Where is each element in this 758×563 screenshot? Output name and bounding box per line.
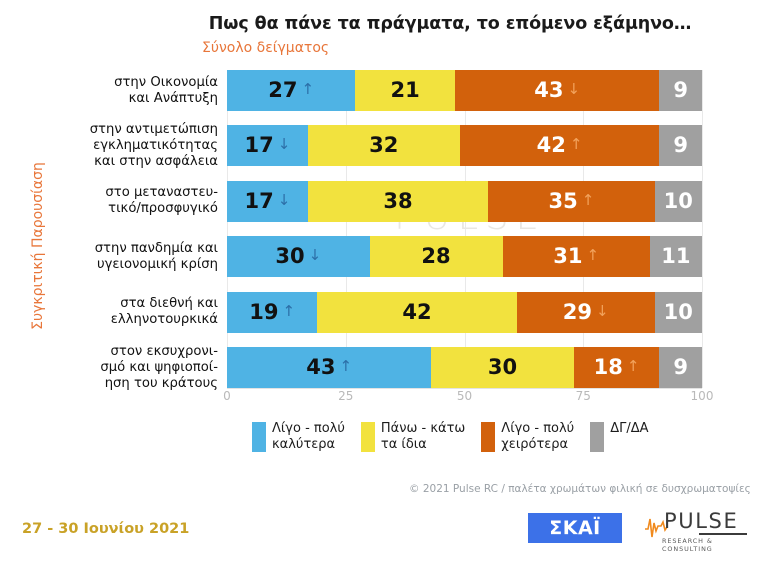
category-label-line: τικό/προσφυγικό [33,201,218,217]
bar-segment-2[interactable]: 42 [317,292,517,333]
bar-value: 32 [369,135,398,156]
bar-value: 30 [488,357,517,378]
trend-arrow-down-icon: ↓ [309,248,322,263]
bar-segment-2[interactable]: 30 [431,347,574,388]
bar-value: 18 [594,357,623,378]
bar-segment-3[interactable]: 43↓ [455,70,659,111]
x-axis-tick: 50 [457,389,472,403]
category-label-line: σμό και ψηφιοποί- [33,360,218,376]
bar-value: 42 [402,302,431,323]
chart-legend: Λίγο - πολύ καλύτεραΠάνω - κάτω τα ίδιαΛ… [252,421,649,453]
bar-value: 28 [421,246,450,267]
bar-value: 17 [244,191,273,212]
bar-segment-3[interactable]: 42↑ [460,125,660,166]
bar-segment-2[interactable]: 21 [355,70,455,111]
category-label: στα διεθνή καιελληνοτουρκικά [33,296,218,328]
bar-segment-4[interactable]: 9 [659,125,702,166]
bar-segment-1[interactable]: 30↓ [227,236,370,277]
x-axis-tick: 0 [223,389,231,403]
bar-value: 11 [661,246,690,267]
gridline [227,70,228,388]
bar-segment-1[interactable]: 17↓ [227,181,308,222]
bar-segment-2[interactable]: 32 [308,125,460,166]
bar-segment-4[interactable]: 10 [655,181,703,222]
bar-segment-3[interactable]: 31↑ [503,236,650,277]
category-label-line: στην Οικονομία [33,75,218,91]
bar-value: 30 [275,246,304,267]
category-label-line: στο μεταναστευ- [33,185,218,201]
trend-arrow-down-icon: ↓ [278,193,291,208]
bar-value: 19 [249,302,278,323]
category-label-line: ελληνοτουρκικά [33,312,218,328]
category-label-line: στην αντιμετώπιση [33,122,218,138]
trend-arrow-up-icon: ↑ [586,248,599,263]
page-title: Πως θα πάνε τα πράγματα, το επόμενο εξάμ… [200,14,700,34]
bar-value: 27 [268,80,297,101]
trend-arrow-up-icon: ↑ [582,193,595,208]
bar-row: 17↓3242↑9 [227,125,702,166]
trend-arrow-down-icon: ↓ [596,304,609,319]
category-label-list: στην Οικονομίακαι Ανάπτυξηστην αντιμετώπ… [28,70,218,388]
category-label-line: ηση του κράτους [33,376,218,392]
bar-value: 38 [383,191,412,212]
copyright-text: © 2021 Pulse RC / παλέτα χρωμάτων φιλική… [409,483,751,495]
x-axis-tick: 25 [338,389,353,403]
bar-segment-4[interactable]: 9 [659,347,702,388]
gridline [346,70,347,388]
bar-segment-1[interactable]: 19↑ [227,292,317,333]
skai-logo: ΣΚΑΪ [528,513,622,543]
x-axis-tick: 75 [576,389,591,403]
legend-label: Λίγο - πολύ καλύτερα [272,421,345,453]
bar-value: 10 [664,302,693,323]
bar-segment-2[interactable]: 38 [308,181,489,222]
bar-value: 31 [553,246,582,267]
category-label-line: υγειονομική κρίση [33,257,218,273]
bar-segment-4[interactable]: 10 [655,292,703,333]
bar-row: 43↑3018↑9 [227,347,702,388]
bar-segment-3[interactable]: 35↑ [488,181,654,222]
category-label-line: στα διεθνή και [33,296,218,312]
bar-value: 29 [563,302,592,323]
category-label-line: και στην ασφάλεια [33,154,218,170]
chart-subtitle: Σύνολο δείγματος [202,40,329,56]
chart-plot-area: PULSE RESEARCH & CONSULTING 27↑2143↓917↓… [227,70,702,388]
bar-row: 30↓2831↑11 [227,236,702,277]
legend-item-4[interactable]: ΔΓ/ΔΑ [590,421,648,452]
bar-segment-1[interactable]: 43↑ [227,347,431,388]
bar-value: 42 [537,135,566,156]
bar-value: 9 [673,357,688,378]
category-label: στην Οικονομίακαι Ανάπτυξη [33,75,218,107]
legend-swatch-icon [481,422,495,452]
legend-item-1[interactable]: Λίγο - πολύ καλύτερα [252,421,345,453]
category-label: στον εκσυχρονι-σμό και ψηφιοποί-ηση του … [33,344,218,392]
legend-swatch-icon [252,422,266,452]
trend-arrow-up-icon: ↑ [301,82,314,97]
legend-item-3[interactable]: Λίγο - πολύ χειρότερα [481,421,574,453]
gridline [702,70,703,388]
bar-value: 9 [673,80,688,101]
category-label: στην πανδημία καιυγειονομική κρίση [33,241,218,273]
legend-swatch-icon [590,422,604,452]
bar-row: 27↑2143↓9 [227,70,702,111]
category-label-line: στον εκσυχρονι- [33,344,218,360]
date-range: 27 - 30 Ιουνίου 2021 [22,521,189,537]
bar-value: 17 [244,135,273,156]
legend-label: Λίγο - πολύ χειρότερα [501,421,574,453]
bar-segment-3[interactable]: 29↓ [517,292,655,333]
gridline [583,70,584,388]
bar-segment-4[interactable]: 9 [659,70,702,111]
legend-item-2[interactable]: Πάνω - κάτω τα ίδια [361,421,465,453]
bar-segment-4[interactable]: 11 [650,236,702,277]
pulse-logo-divider [699,533,747,535]
legend-label: Πάνω - κάτω τα ίδια [381,421,465,453]
category-label-line: στην πανδημία και [33,241,218,257]
bar-value: 9 [673,135,688,156]
category-label: στην αντιμετώπισηεγκληματικότηταςκαι στη… [33,122,218,170]
trend-arrow-down-icon: ↓ [567,82,580,97]
trend-arrow-up-icon: ↑ [570,137,583,152]
bar-value: 43 [306,357,335,378]
bar-segment-3[interactable]: 18↑ [574,347,660,388]
legend-label: ΔΓ/ΔΑ [610,421,648,437]
bar-segment-1[interactable]: 17↓ [227,125,308,166]
pulse-logo-subtext: RESEARCH & CONSULTING [662,537,748,553]
bar-value: 10 [664,191,693,212]
category-label: στο μεταναστευ-τικό/προσφυγικό [33,185,218,217]
bar-value: 21 [391,80,420,101]
trend-arrow-up-icon: ↑ [339,359,352,374]
pulse-logo-text: PULSE [664,511,738,532]
trend-arrow-down-icon: ↓ [278,137,291,152]
bar-segment-1[interactable]: 27↑ [227,70,355,111]
skai-logo-text: ΣΚΑΪ [549,517,600,539]
x-axis-tick: 100 [691,389,714,403]
trend-arrow-up-icon: ↑ [627,359,640,374]
pulse-logo: PULSE RESEARCH & CONSULTING [644,511,748,547]
bar-segment-2[interactable]: 28 [370,236,503,277]
bar-value: 35 [548,191,577,212]
trend-arrow-up-icon: ↑ [282,304,295,319]
x-axis-ticks: 0255075100 [227,389,702,407]
bar-value: 43 [534,80,563,101]
legend-swatch-icon [361,422,375,452]
category-label-line: εγκληματικότητας [33,138,218,154]
bar-row: 17↓3835↑10 [227,181,702,222]
category-label-line: και Ανάπτυξη [33,91,218,107]
gridline [465,70,466,388]
bar-row: 19↑4229↓10 [227,292,702,333]
